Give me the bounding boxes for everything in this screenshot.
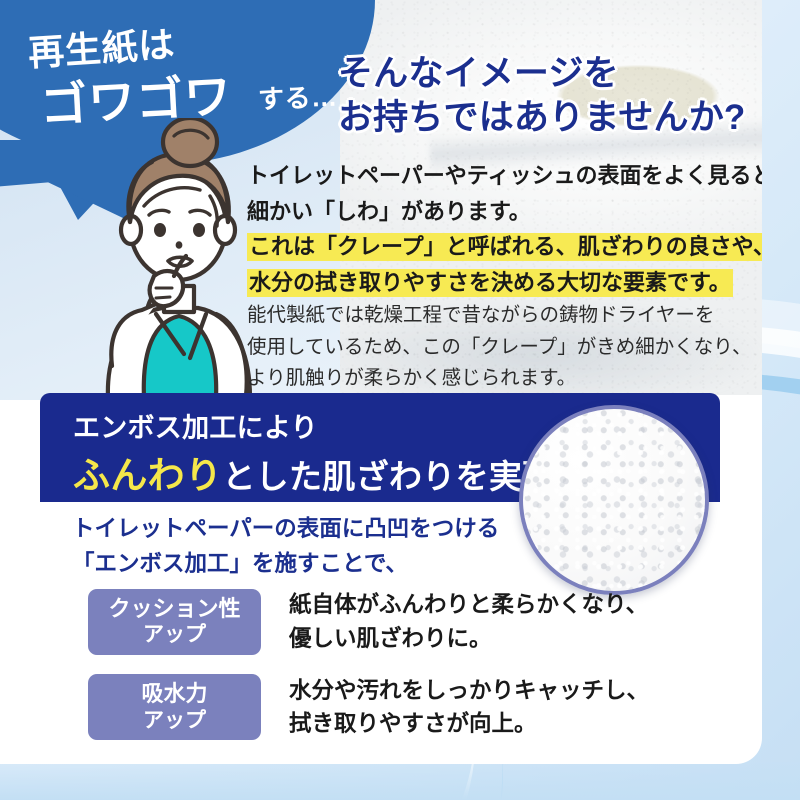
- badge-line-2: アップ: [143, 708, 206, 733]
- sub-line-3: より肌触りが柔らかく感じられます。: [247, 363, 762, 395]
- headline-line-1: そんなイメージを: [338, 52, 762, 96]
- sub-line-1: 能代製紙では乾燥工程で昔ながらの鋳物ドライヤーを: [247, 300, 762, 332]
- badge-line-1: 吸水力: [141, 681, 207, 707]
- benefit-description: 水分や汚れをしっかりキャッチし、 拭き取りやすさが向上。: [289, 674, 649, 742]
- headline: そんなイメージを お持ちではありませんか?: [338, 52, 762, 141]
- benefit-description: 紙自体がふんわりと柔らかくなり、 優しい肌ざわりに。: [289, 588, 648, 656]
- sparkle-line-1: [720, 409, 734, 432]
- body-line-1: トイレットペーパーやティッシュの表面をよく見ると、: [247, 158, 762, 194]
- benefit-row: 吸水力 アップ 水分や汚れをしっかりキャッチし、 拭き取りやすさが向上。: [88, 674, 728, 742]
- benefit-badge-absorption: 吸水力 アップ: [88, 674, 261, 740]
- thinking-woman-illustration: [78, 118, 268, 398]
- benefit-text-line-1: 水分や汚れをしっかりキャッチし、: [289, 674, 649, 708]
- navy-banner-line-2: ふんわりとした肌ざわりを実現: [73, 445, 556, 499]
- lower-line-2: 「エンボス加工」を施すことで、: [72, 547, 552, 582]
- sub-copy: 能代製紙では乾燥工程で昔ながらの鋳物ドライヤーを 使用しているため、この「クレー…: [247, 300, 762, 395]
- benefit-text-line-2: 拭き取りやすさが向上。: [289, 707, 649, 741]
- lower-line-1: トイレットペーパーの表面に凸凹をつける: [72, 512, 552, 547]
- lower-copy: トイレットペーパーの表面に凸凹をつける 「エンボス加工」を施すことで、: [72, 512, 552, 582]
- body-line-2: 細かい「しわ」があります。: [247, 194, 762, 230]
- bottom-gradient-band: [0, 762, 800, 800]
- navy-banner-accent: ふんわり: [73, 455, 222, 496]
- body-highlight-line-2: 水分の拭き取りやすさを決める大切な要素です。: [247, 265, 762, 301]
- navy-banner-rest: とした肌ざわりを実現: [222, 458, 555, 495]
- badge-line-2: アップ: [143, 622, 206, 647]
- sub-line-2: 使用しているため、この「クレープ」がきめ細かくなり、: [247, 332, 762, 364]
- benefit-text-line-1: 紙自体がふんわりと柔らかくなり、: [289, 588, 648, 622]
- content-card: 再生紙は ゴワゴワ する…: [0, 0, 762, 764]
- benefit-text-line-2: 優しい肌ざわりに。: [289, 622, 648, 656]
- navy-banner-line-1: エンボス加工により: [73, 406, 318, 445]
- benefit-row: クッション性 アップ 紙自体がふんわりと柔らかくなり、 優しい肌ざわりに。: [88, 588, 728, 656]
- headline-line-2: お持ちではありませんか?: [338, 96, 762, 140]
- bubble-line-3: する…: [257, 77, 338, 117]
- sparkle-line-2: [733, 431, 757, 450]
- body-highlight-line-1: これは「クレープ」と呼ばれる、肌ざわりの良さや、: [247, 229, 762, 265]
- yellow-highlight-2: 水分の拭き取りやすさを決める大切な要素です。: [247, 269, 733, 297]
- badge-line-1: クッション性: [108, 596, 240, 622]
- sparkle-line-3: [735, 464, 761, 470]
- yellow-highlight-1: これは「クレープ」と呼ばれる、肌ざわりの良さや、: [247, 233, 762, 261]
- benefits-list: クッション性 アップ 紙自体がふんわりと柔らかくなり、 優しい肌ざわりに。 吸水…: [88, 588, 728, 759]
- body-copy: トイレットペーパーやティッシュの表面をよく見ると、 細かい「しわ」があります。 …: [247, 158, 762, 301]
- benefit-badge-cushion: クッション性 アップ: [88, 589, 261, 655]
